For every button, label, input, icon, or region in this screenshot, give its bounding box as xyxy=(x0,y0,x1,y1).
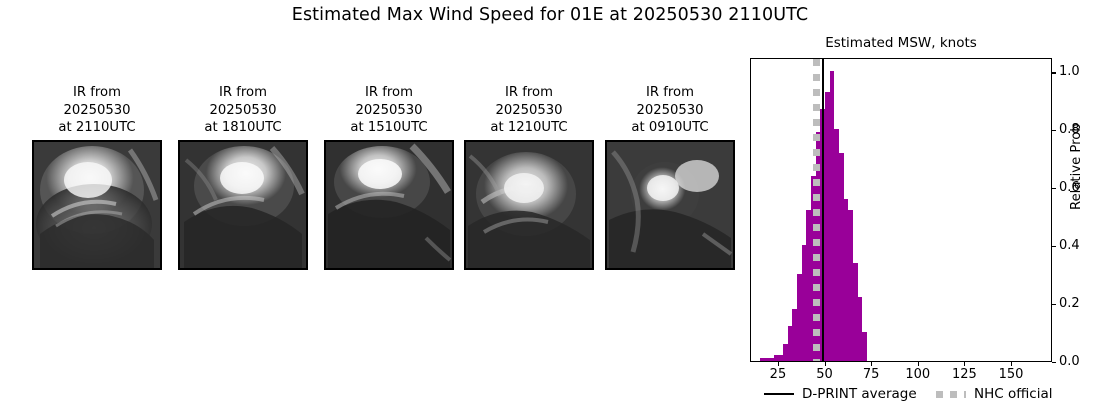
satellite-panel-2-caption: IR from 20250530 at 1810UTC xyxy=(178,84,308,137)
nhc-official-line xyxy=(813,59,820,361)
ir-satellite-image-1 xyxy=(32,140,162,270)
chart-title: Estimated MSW, knots xyxy=(750,35,1052,51)
page-title: Estimated Max Wind Speed for 01E at 2025… xyxy=(0,5,1100,25)
legend-item-dprint: D-PRINT average xyxy=(764,383,917,405)
ir-satellite-image-5 xyxy=(605,140,735,270)
x-axis-tick-label: 75 xyxy=(848,367,894,382)
x-axis-tick xyxy=(825,362,826,366)
y-axis-tick-label: 0.0 xyxy=(1059,355,1080,368)
y-axis-tick xyxy=(1052,362,1056,363)
y-axis-label: Relative Prob xyxy=(1069,123,1084,210)
x-axis-tick xyxy=(1011,362,1012,366)
dprint-average-line xyxy=(822,59,824,361)
y-axis-tick xyxy=(1052,304,1056,305)
ir-satellite-image-4 xyxy=(464,140,594,270)
y-axis-tick-label: 0.4 xyxy=(1059,239,1080,252)
satellite-panel-5-caption: IR from 20250530 at 0910UTC xyxy=(605,84,735,137)
satellite-panel-4-caption: IR from 20250530 at 1210UTC xyxy=(464,84,594,137)
legend-label-nhc: NHC official xyxy=(974,386,1052,402)
legend-label-dprint: D-PRINT average xyxy=(802,386,917,402)
satellite-panel-3: IR from 20250530 at 1510UTC xyxy=(324,84,454,270)
y-axis-tick-label: 0.2 xyxy=(1059,297,1080,310)
x-axis-tick xyxy=(778,362,779,366)
wind-speed-figure: Estimated Max Wind Speed for 01E at 2025… xyxy=(0,0,1100,409)
satellite-panel-1-caption: IR from 20250530 at 2110UTC xyxy=(32,84,162,137)
ir-satellite-image-3 xyxy=(324,140,454,270)
chart-legend: D-PRINT average NHC official xyxy=(750,383,1080,407)
y-axis-tick xyxy=(1052,130,1056,131)
x-axis-tick-label: 25 xyxy=(755,367,801,382)
msw-histogram-axes xyxy=(750,58,1052,362)
legend-item-nhc: NHC official xyxy=(936,383,1052,405)
satellite-panel-4: IR from 20250530 at 1210UTC xyxy=(464,84,594,270)
satellite-panel-2: IR from 20250530 at 1810UTC xyxy=(178,84,308,270)
y-axis-tick-label: 1.0 xyxy=(1059,65,1080,78)
x-axis-tick-label: 100 xyxy=(895,367,941,382)
x-axis-tick-label: 50 xyxy=(802,367,848,382)
dashed-line-swatch-icon xyxy=(936,391,966,398)
x-axis-tick xyxy=(871,362,872,366)
solid-line-swatch-icon xyxy=(764,393,794,395)
x-axis-tick xyxy=(964,362,965,366)
y-axis-tick xyxy=(1052,72,1056,73)
reference-lines xyxy=(751,59,1051,361)
ir-satellite-image-2 xyxy=(178,140,308,270)
x-axis-tick-label: 125 xyxy=(941,367,987,382)
satellite-panel-1: IR from 20250530 at 2110UTC xyxy=(32,84,162,270)
satellite-panel-3-caption: IR from 20250530 at 1510UTC xyxy=(324,84,454,137)
y-axis-tick xyxy=(1052,246,1056,247)
x-axis-tick-label: 150 xyxy=(988,367,1034,382)
x-axis-tick xyxy=(918,362,919,366)
y-axis-tick xyxy=(1052,188,1056,189)
satellite-panel-5: IR from 20250530 at 0910UTC xyxy=(605,84,735,270)
